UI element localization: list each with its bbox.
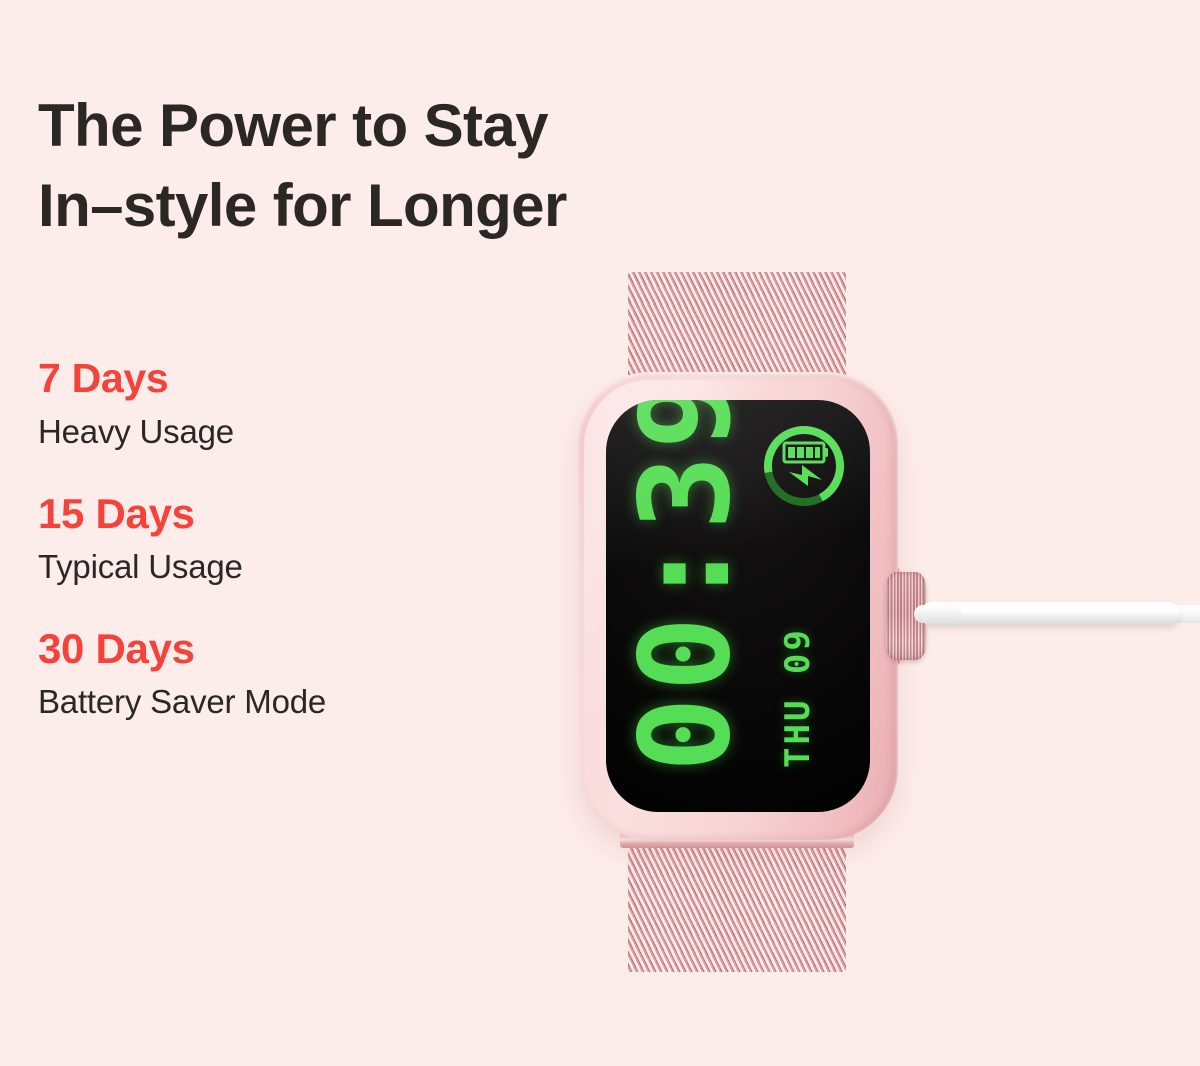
watch-band-bottom <box>628 844 846 972</box>
watch-date-display: THU 09 <box>778 627 818 768</box>
watch-face: 00:39 THU 09 <box>606 400 870 812</box>
spec-value: 15 Days <box>38 490 558 537</box>
battery-spec-list: 7 Days Heavy Usage 15 Days Typical Usage… <box>38 356 558 723</box>
lightning-bolt-icon <box>789 465 822 486</box>
promo-banner: The Power to Stay In–style for Longer 7 … <box>0 0 1200 1066</box>
charging-cable-connector <box>914 605 962 623</box>
page-title: The Power to Stay In–style for Longer <box>38 94 718 238</box>
smartwatch-product-image: 00:39 THU 09 <box>556 272 976 972</box>
spec-label: Battery Saver Mode <box>38 681 558 722</box>
headline-line-1: The Power to Stay <box>38 92 548 159</box>
watch-screen[interactable]: 00:39 THU 09 <box>606 400 870 812</box>
charge-ring-progress <box>762 424 845 507</box>
spec-item-battery-saver-mode: 30 Days Battery Saver Mode <box>38 625 558 722</box>
spec-value: 30 Days <box>38 625 558 672</box>
spec-item-heavy-usage: 7 Days Heavy Usage <box>38 356 558 452</box>
watch-time-display: 00:39 <box>624 400 748 772</box>
battery-icon <box>784 443 828 462</box>
spec-value: 7 Days <box>38 356 558 402</box>
headline-line-2: In–style for Longer <box>38 174 718 238</box>
spec-label: Heavy Usage <box>38 411 558 452</box>
spec-label: Typical Usage <box>38 546 558 587</box>
spec-item-typical-usage: 15 Days Typical Usage <box>38 490 558 587</box>
charging-complication <box>756 418 852 514</box>
